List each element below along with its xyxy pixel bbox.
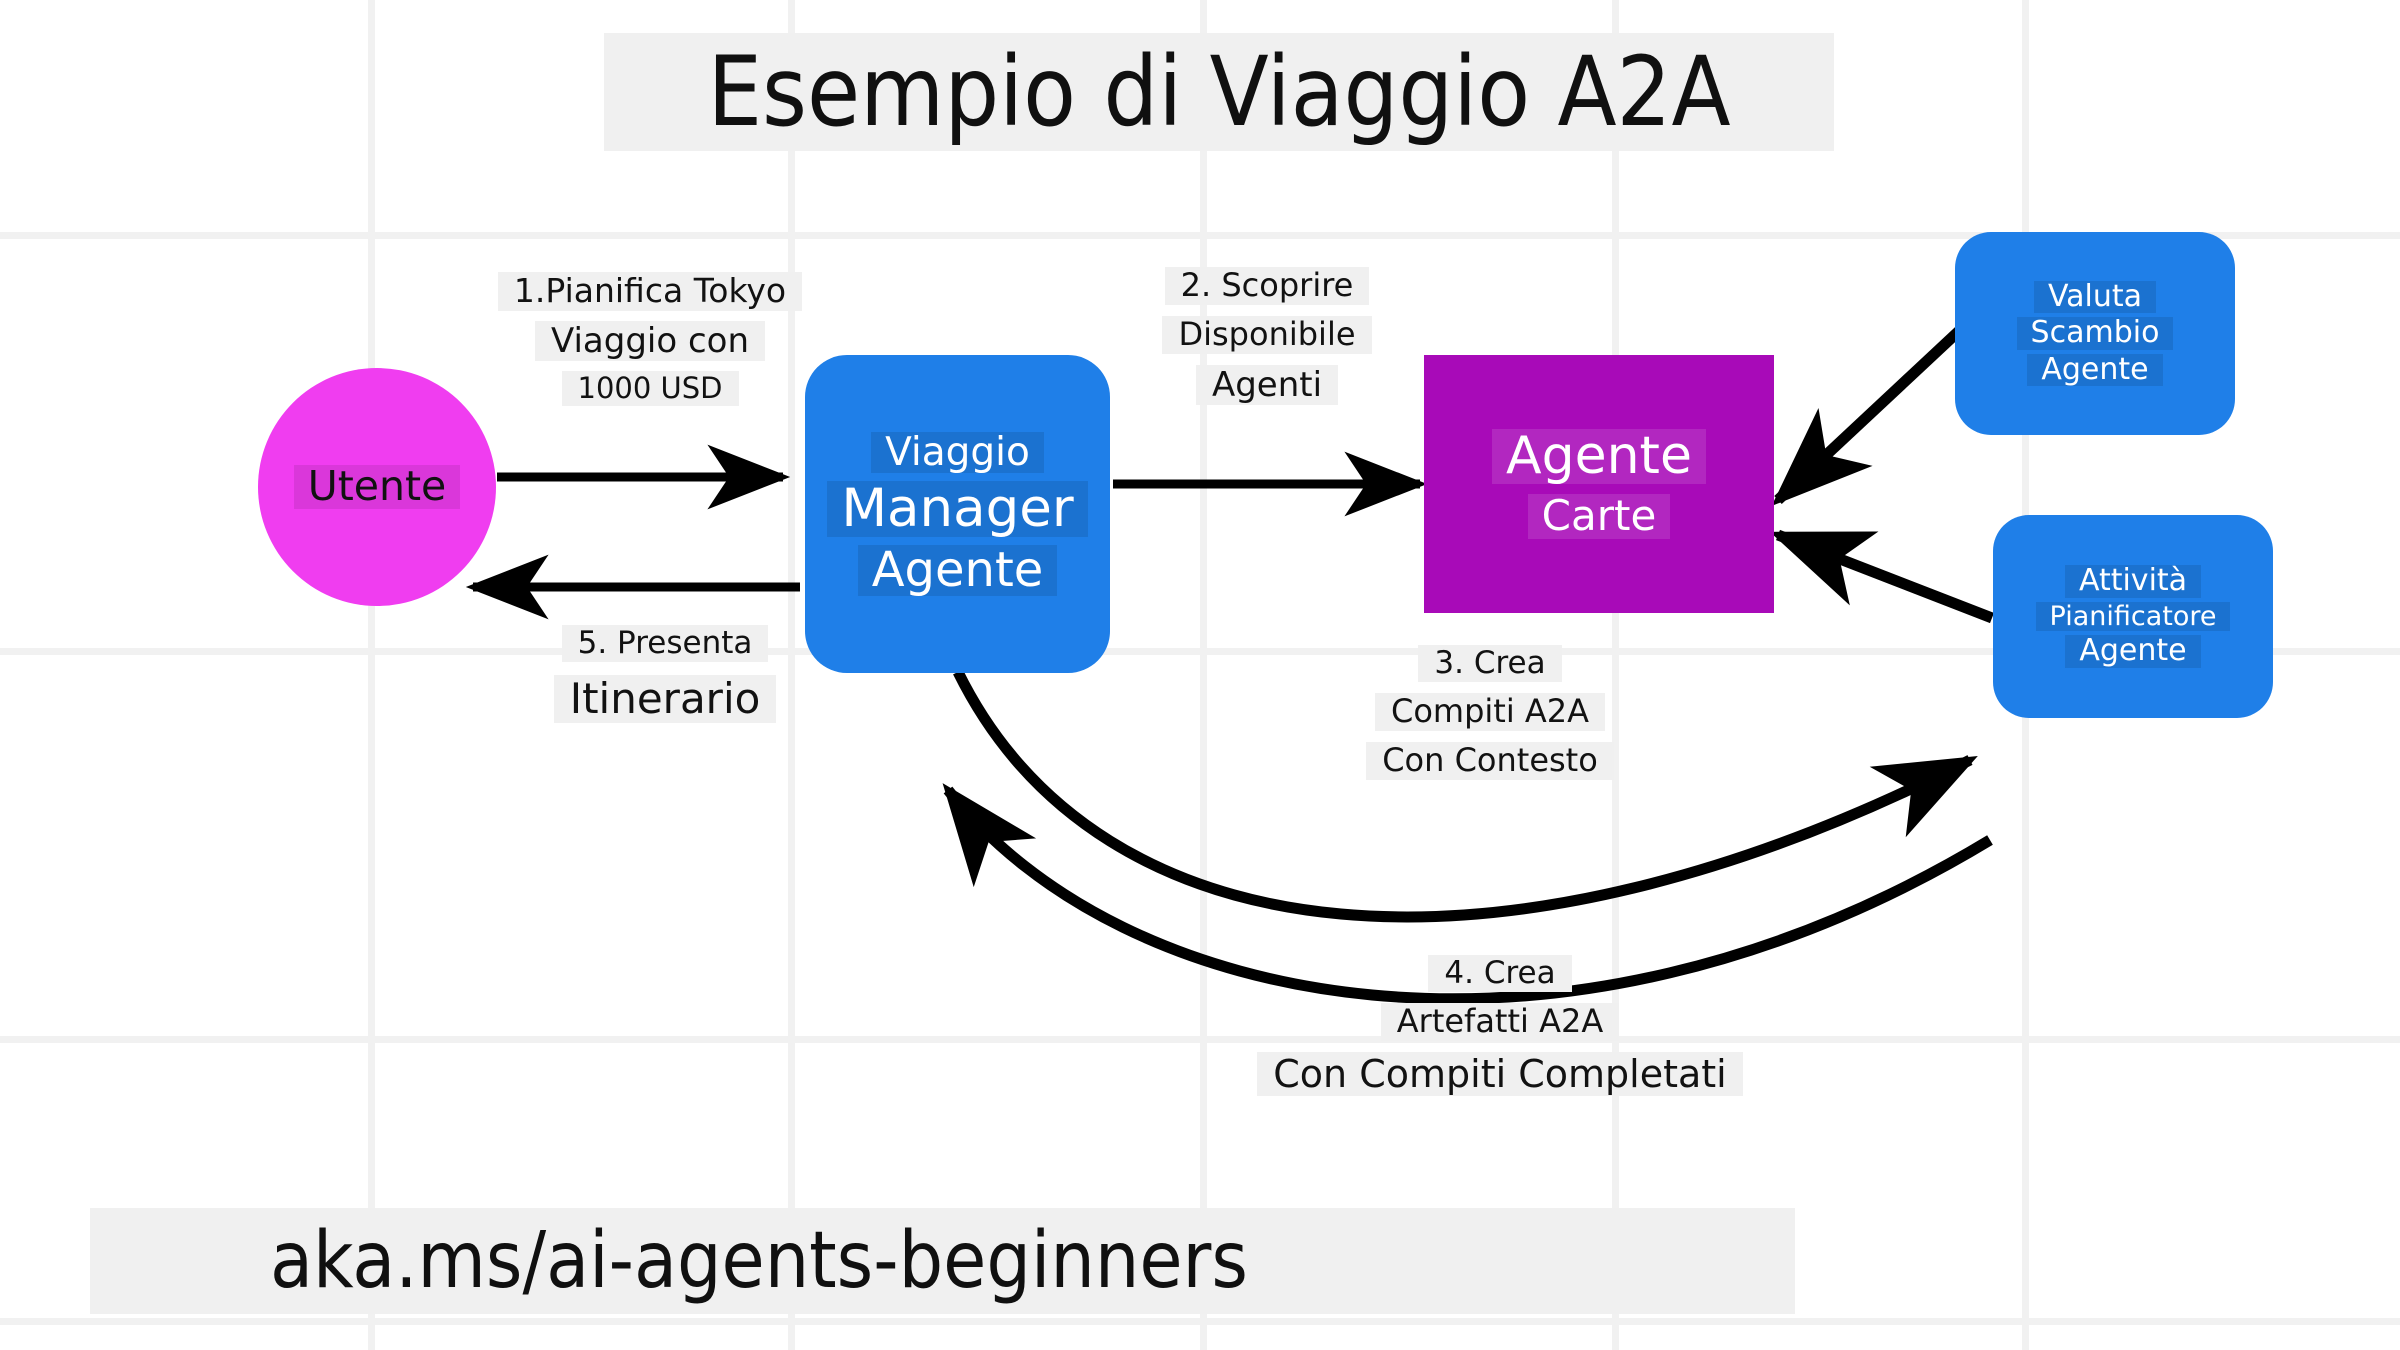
edge-label-step-4-line-3: Con Compiti Completati	[1257, 1052, 1742, 1096]
node-agent-cards-line-2: Carte	[1528, 494, 1671, 539]
edge-label-step-5-line-1: 5. Presenta	[562, 625, 769, 662]
edge-label-step-4-line-2: Artefatti A2A	[1381, 1003, 1619, 1041]
footer-url-text: aka.ms/ai-agents-beginners	[270, 1216, 1248, 1306]
node-currency-exchange-line-3: Agente	[2027, 354, 2162, 387]
node-travel-manager-line-2: Manager	[827, 481, 1087, 537]
node-currency-exchange-line-1: Valuta	[2034, 281, 2156, 314]
arrow-task-planner-to-agent-cards	[1778, 535, 1992, 618]
edge-label-step-1-line-3: 1000 USD	[562, 371, 739, 406]
edge-label-step-1: 1.Pianifica Tokyo Viaggio con 1000 USD	[500, 272, 800, 406]
page-title: Esempio di Viaggio A2A	[604, 33, 1834, 151]
edge-label-step-1-line-1: 1.Pianifica Tokyo	[498, 272, 802, 311]
edge-label-step-5: 5. Presenta Itinerario	[545, 625, 785, 723]
edge-label-step-3-line-2: Compiti A2A	[1375, 693, 1605, 731]
edge-label-step-3-line-1: 3. Crea	[1418, 645, 1561, 682]
page-title-text: Esempio di Viaggio A2A	[707, 36, 1730, 148]
node-task-planner-line-3: Agente	[2065, 635, 2200, 668]
node-user-label: Utente	[294, 465, 461, 509]
edge-label-step-1-line-2: Viaggio con	[535, 321, 765, 361]
edge-label-step-2-line-1: 2. Scoprire	[1165, 267, 1370, 305]
node-agent-cards-line-1: Agente	[1492, 429, 1706, 484]
node-travel-manager-line-3: Agente	[858, 545, 1058, 596]
node-travel-manager-agent[interactable]: Viaggio Manager Agente	[805, 355, 1110, 673]
diagram-canvas: Esempio di Viaggio A2A Utente Viaggio Ma…	[0, 0, 2400, 1350]
node-agent-cards[interactable]: Agente Carte	[1424, 355, 1774, 613]
node-travel-manager-line-1: Viaggio	[871, 432, 1044, 474]
edge-label-step-2-line-2: Disponibile	[1162, 316, 1371, 354]
edge-label-step-3-line-3: Con Contesto	[1366, 742, 1614, 780]
edge-label-step-3: 3. Crea Compiti A2A Con Contesto	[1335, 645, 1645, 780]
edge-label-step-4-line-1: 4. Crea	[1428, 955, 1571, 992]
node-task-planner-agent[interactable]: Attività Pianificatore Agente	[1993, 515, 2273, 718]
node-currency-exchange-line-2: Scambio	[2017, 317, 2174, 350]
node-currency-exchange-agent[interactable]: Valuta Scambio Agente	[1955, 232, 2235, 435]
edge-label-step-5-line-2: Itinerario	[554, 675, 777, 724]
node-task-planner-line-1: Attività	[2065, 565, 2201, 598]
edge-label-step-4: 4. Crea Artefatti A2A Con Compiti Comple…	[1235, 955, 1765, 1096]
edge-label-step-2-line-3: Agenti	[1196, 365, 1338, 405]
footer-url[interactable]: aka.ms/ai-agents-beginners	[90, 1208, 1795, 1314]
node-user[interactable]: Utente	[258, 368, 496, 606]
edge-label-step-2: 2. Scoprire Disponibile Agenti	[1122, 267, 1412, 405]
arrow-currency-exchange-to-agent-cards	[1778, 330, 1960, 500]
node-task-planner-line-2: Pianificatore	[2036, 602, 2231, 632]
